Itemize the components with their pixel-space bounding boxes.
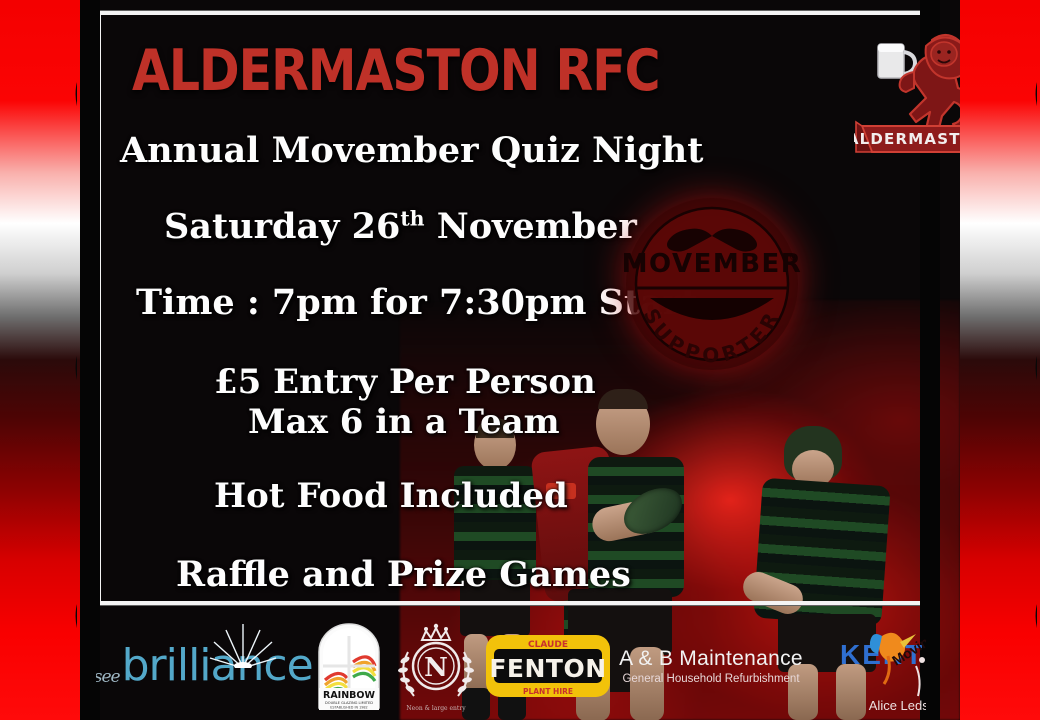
sponsor-name: A & B Maintenance (619, 647, 803, 671)
sponsor-tagline: Neon & large entry (406, 705, 466, 712)
starburst-icon (208, 622, 278, 668)
movember-supporter-badge: MOVEMBER ® SUPPORTER (612, 186, 812, 382)
sponsor-name: RAINBOW (323, 690, 375, 701)
event-date-month: November (425, 206, 637, 247)
window-rainbow-icon: RAINBOW DOUBLE GLAZING LIMITED ESTABLISH… (313, 622, 385, 710)
sponsor-kent-removals: KENT Moving with Ease Alice Ledson (810, 612, 926, 720)
sponsor-prefix: .see (96, 667, 120, 687)
moustache-icon (963, 8, 1037, 198)
sponsor-claude-fenton: CLAUDE FENTON PLANT HIRE (484, 612, 612, 720)
movember-trademark: ® (789, 253, 798, 263)
moustache-icon (963, 530, 1037, 720)
sponsor-monogram: N (424, 653, 448, 683)
sponsor-line-top: CLAUDE (528, 640, 568, 650)
sponsor-line2: DOUBLE GLAZING LIMITED (325, 701, 373, 705)
team-size: Max 6 in a Team (248, 402, 560, 442)
entry-price: £5 Entry Per Person (214, 362, 596, 402)
left-moustache-strip (0, 0, 80, 720)
event-date-day: Saturday 26 (164, 206, 400, 247)
sponsor-name: FENTON (489, 654, 606, 683)
page-title: ALDERMASTON RFC (132, 38, 660, 104)
sponsor-n-crest: N Neon & large entry (392, 612, 480, 720)
movember-quiz-poster: ALDERMASTON RFC Annual Movember Quiz Nig… (0, 0, 1040, 720)
sponsor-person: Alice Ledson (869, 698, 926, 713)
sponsor-rainbow: RAINBOW DOUBLE GLAZING LIMITED ESTABLISH… (310, 612, 388, 720)
sponsor-bar: .seebrilliance RAINBOW (96, 612, 926, 720)
moustache-icon (3, 8, 77, 198)
sponsor-line-bottom: PLANT HIRE (523, 687, 573, 696)
food-info: Hot Food Included (214, 476, 568, 516)
right-moustache-strip (960, 0, 1040, 720)
moustache-icon (3, 530, 77, 720)
sponsor-line3: ESTABLISHED IN 1982 (330, 706, 367, 710)
event-name: Annual Movember Quiz Night (120, 130, 703, 171)
event-date: Saturday 26th November (164, 206, 637, 247)
moustache-icon (963, 282, 1037, 472)
event-date-suffix: th (400, 206, 424, 230)
sponsor-tagline: General Household Refurbishment (622, 673, 799, 685)
movember-wordmark: MOVEMBER (622, 249, 803, 279)
sponsor-name: .seebrilliance (96, 644, 313, 688)
crown-laurel-crest-icon: N Neon & large entry (392, 618, 480, 714)
moustache-icon (3, 282, 77, 472)
extras-info: Raffle and Prize Games (176, 554, 631, 595)
sponsor-a-and-b-maintenance: A & B Maintenance General Household Refu… (616, 612, 806, 720)
sponsor-see-brilliance: .seebrilliance (96, 612, 306, 720)
